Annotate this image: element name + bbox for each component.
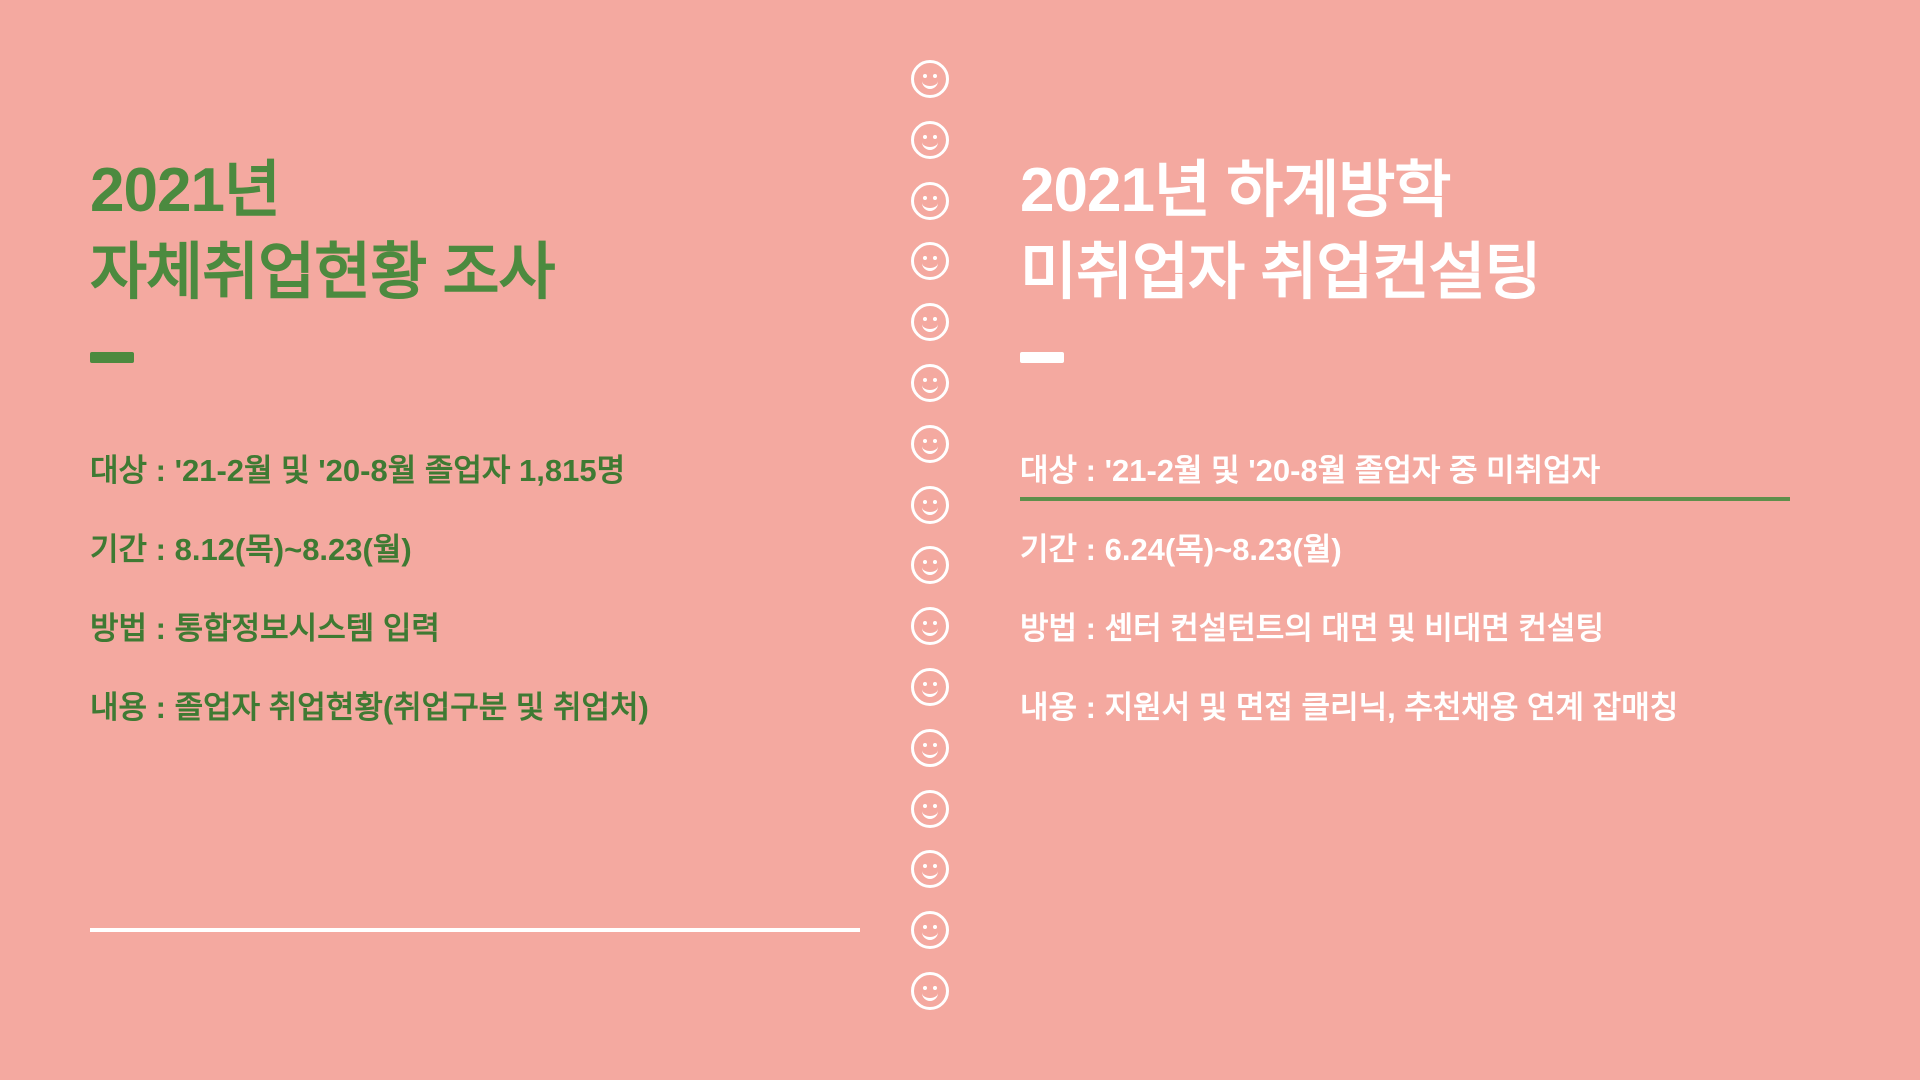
smiley-face-icon xyxy=(911,303,949,341)
smiley-face-icon xyxy=(911,242,949,280)
smiley-face-icon xyxy=(911,121,949,159)
smiley-face-icon xyxy=(911,364,949,402)
left-detail-content: 내용 : 졸업자 취업현황(취업구분 및 취업처) xyxy=(90,692,890,723)
right-panel: 2021년 하계방학 미취업자 취업컨설팅 대상 : '21-2월 및 '20-… xyxy=(1020,150,1850,771)
smiley-face-icon xyxy=(911,972,949,1010)
right-detail-target: 대상 : '21-2월 및 '20-8월 졸업자 중 미취업자 xyxy=(1020,455,1850,486)
smiley-divider-rail xyxy=(890,60,970,1010)
smiley-face-icon xyxy=(911,486,949,524)
poster-canvas: 2021년 자체취업현황 조사 대상 : '21-2월 및 '20-8월 졸업자… xyxy=(0,0,1920,1080)
left-panel-title: 2021년 자체취업현황 조사 xyxy=(90,150,890,314)
right-panel-top-rule xyxy=(1020,497,1790,501)
smiley-face-icon xyxy=(911,546,949,584)
left-panel: 2021년 자체취업현황 조사 대상 : '21-2월 및 '20-8월 졸업자… xyxy=(90,150,890,771)
left-detail-target: 대상 : '21-2월 및 '20-8월 졸업자 1,815명 xyxy=(90,455,890,486)
smiley-face-icon xyxy=(911,790,949,828)
left-panel-bottom-rule xyxy=(90,928,860,932)
left-detail-method: 방법 : 통합정보시스템 입력 xyxy=(90,613,890,644)
right-detail-period: 기간 : 6.24(목)~8.23(월) xyxy=(1020,534,1850,565)
smiley-face-icon xyxy=(911,729,949,767)
left-detail-period: 기간 : 8.12(목)~8.23(월) xyxy=(90,534,890,565)
smiley-face-icon xyxy=(911,911,949,949)
right-detail-content: 내용 : 지원서 및 면접 클리닉, 추천채용 연계 잡매칭 xyxy=(1020,692,1850,723)
smiley-face-icon xyxy=(911,182,949,220)
smiley-face-icon xyxy=(911,668,949,706)
left-panel-details: 대상 : '21-2월 및 '20-8월 졸업자 1,815명 기간 : 8.1… xyxy=(90,455,890,723)
right-panel-dash-icon xyxy=(1020,352,1064,363)
smiley-face-icon xyxy=(911,425,949,463)
smiley-face-icon xyxy=(911,850,949,888)
right-panel-title: 2021년 하계방학 미취업자 취업컨설팅 xyxy=(1020,150,1850,314)
smiley-face-icon xyxy=(911,607,949,645)
smiley-face-icon xyxy=(911,60,949,98)
left-panel-dash-icon xyxy=(90,352,134,363)
right-detail-method: 방법 : 센터 컨설턴트의 대면 및 비대면 컨설팅 xyxy=(1020,613,1850,644)
right-panel-details: 대상 : '21-2월 및 '20-8월 졸업자 중 미취업자 기간 : 6.2… xyxy=(1020,455,1850,723)
